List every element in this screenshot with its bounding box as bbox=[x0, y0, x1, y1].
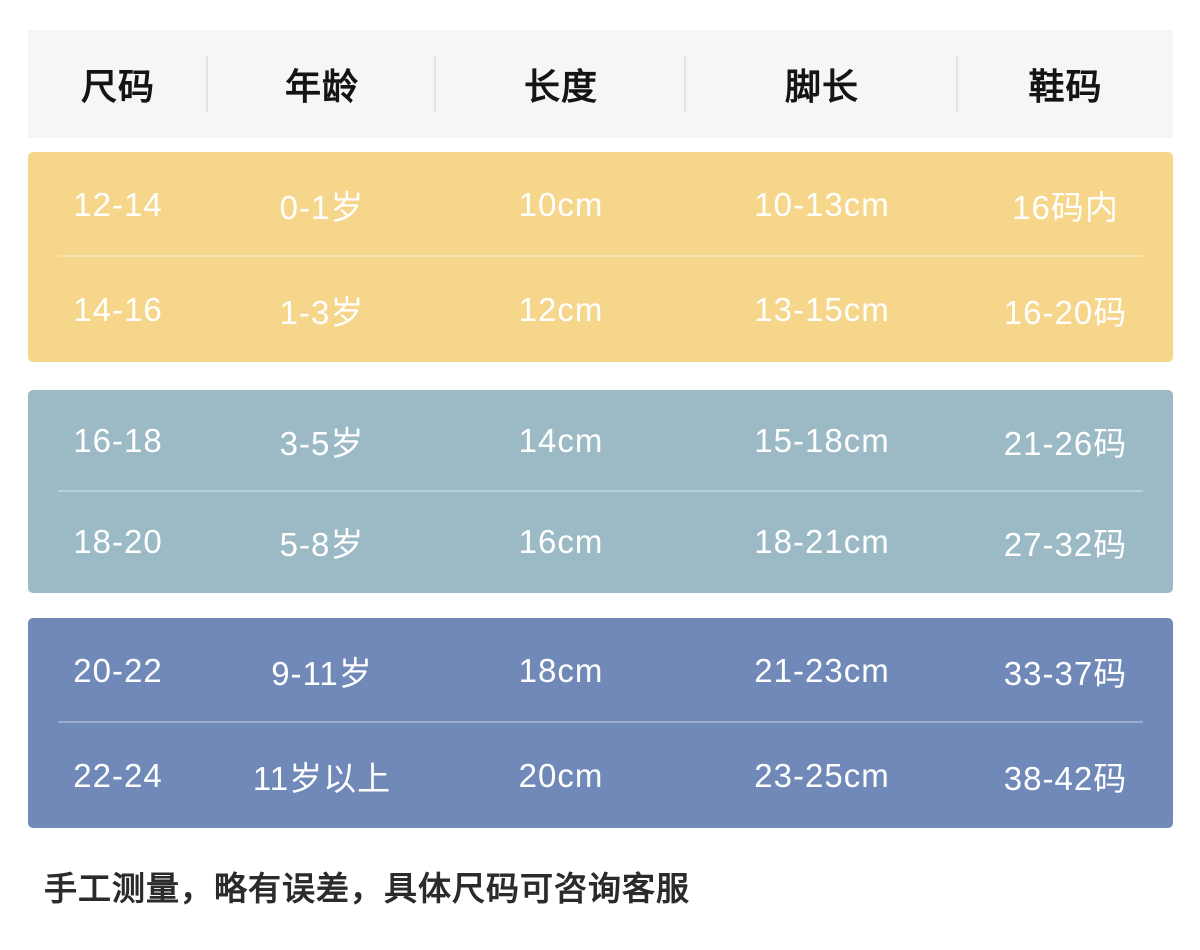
column-header-shoe-size: 鞋码 bbox=[958, 30, 1173, 138]
cell-size: 16-18 bbox=[28, 390, 208, 492]
column-header-label: 年龄 bbox=[285, 58, 359, 110]
cell-length: 12cm bbox=[436, 257, 686, 362]
table-row: 14-16 1-3岁 12cm 13-15cm 16-20码 bbox=[28, 257, 1173, 362]
table-row: 12-14 0-1岁 10cm 10-13cm 16码内 bbox=[28, 152, 1173, 257]
cell-length: 14cm bbox=[436, 390, 686, 492]
table-header-row: 尺码 年龄 长度 脚长 鞋码 bbox=[28, 30, 1173, 138]
cell-size: 12-14 bbox=[28, 152, 208, 257]
column-header-age: 年龄 bbox=[208, 30, 436, 138]
table-row: 18-20 5-8岁 16cm 18-21cm 27-32码 bbox=[28, 492, 1173, 594]
cell-foot-length: 18-21cm bbox=[686, 492, 958, 594]
cell-size: 20-22 bbox=[28, 618, 208, 723]
measurement-note: 手工测量，略有误差，具体尺码可咨询客服 bbox=[44, 862, 690, 910]
cell-foot-length: 15-18cm bbox=[686, 390, 958, 492]
cell-length: 10cm bbox=[436, 152, 686, 257]
cell-age: 9-11岁 bbox=[208, 618, 436, 723]
cell-age: 1-3岁 bbox=[208, 257, 436, 362]
cell-length: 16cm bbox=[436, 492, 686, 594]
cell-foot-length: 21-23cm bbox=[686, 618, 958, 723]
column-header-size: 尺码 bbox=[28, 30, 208, 138]
column-header-label: 尺码 bbox=[81, 58, 155, 110]
cell-age: 11岁以上 bbox=[208, 723, 436, 828]
cell-shoe-size: 27-32码 bbox=[958, 492, 1173, 594]
cell-length: 20cm bbox=[436, 723, 686, 828]
cell-size: 14-16 bbox=[28, 257, 208, 362]
cell-shoe-size: 38-42码 bbox=[958, 723, 1173, 828]
cell-size: 22-24 bbox=[28, 723, 208, 828]
cell-shoe-size: 21-26码 bbox=[958, 390, 1173, 492]
column-header-length: 长度 bbox=[436, 30, 686, 138]
cell-shoe-size: 33-37码 bbox=[958, 618, 1173, 723]
cell-age: 5-8岁 bbox=[208, 492, 436, 594]
cell-age: 0-1岁 bbox=[208, 152, 436, 257]
cell-length: 18cm bbox=[436, 618, 686, 723]
table-row: 22-24 11岁以上 20cm 23-25cm 38-42码 bbox=[28, 723, 1173, 828]
column-header-foot-length: 脚长 bbox=[686, 30, 958, 138]
size-chart: 尺码 年龄 长度 脚长 鞋码 12-14 0-1岁 10cm 10-13cm 1… bbox=[0, 0, 1200, 950]
column-header-label: 鞋码 bbox=[1028, 58, 1102, 110]
size-group-blue: 20-22 9-11岁 18cm 21-23cm 33-37码 22-24 11… bbox=[28, 618, 1173, 828]
cell-foot-length: 10-13cm bbox=[686, 152, 958, 257]
cell-shoe-size: 16-20码 bbox=[958, 257, 1173, 362]
cell-foot-length: 23-25cm bbox=[686, 723, 958, 828]
cell-shoe-size: 16码内 bbox=[958, 152, 1173, 257]
table-row: 16-18 3-5岁 14cm 15-18cm 21-26码 bbox=[28, 390, 1173, 492]
cell-size: 18-20 bbox=[28, 492, 208, 594]
table-row: 20-22 9-11岁 18cm 21-23cm 33-37码 bbox=[28, 618, 1173, 723]
column-header-label: 脚长 bbox=[785, 58, 859, 110]
column-header-label: 长度 bbox=[524, 58, 598, 110]
cell-foot-length: 13-15cm bbox=[686, 257, 958, 362]
cell-age: 3-5岁 bbox=[208, 390, 436, 492]
size-group-grey-blue: 16-18 3-5岁 14cm 15-18cm 21-26码 18-20 5-8… bbox=[28, 390, 1173, 593]
size-group-yellow: 12-14 0-1岁 10cm 10-13cm 16码内 14-16 1-3岁 … bbox=[28, 152, 1173, 362]
